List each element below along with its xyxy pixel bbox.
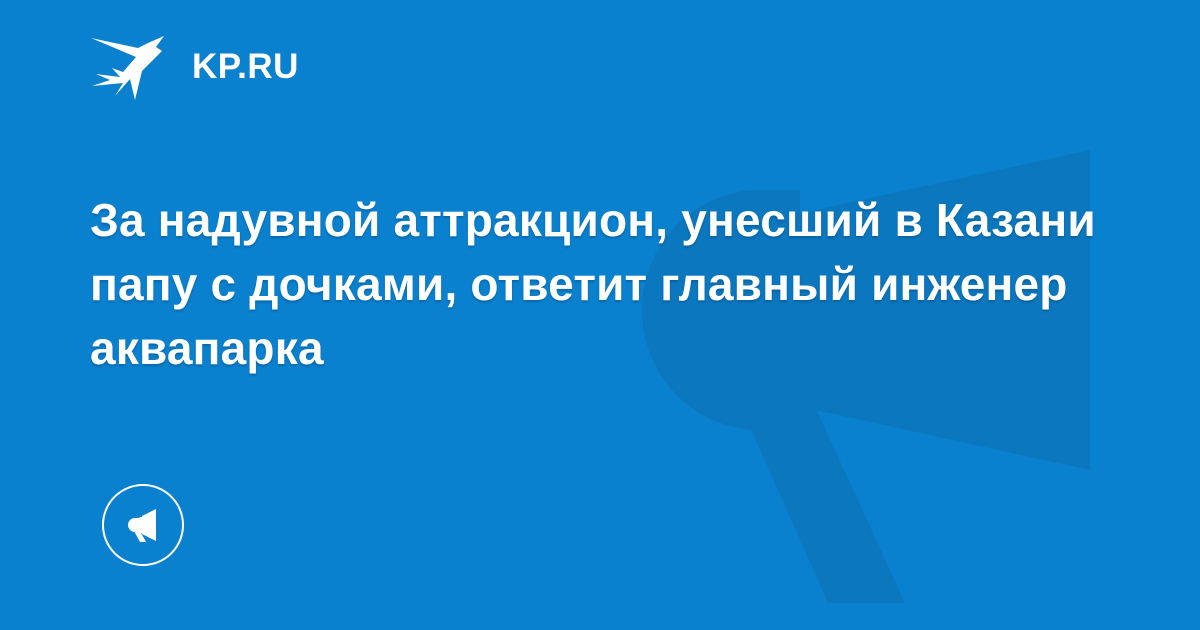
swallow-bird-icon	[90, 30, 170, 102]
megaphone-icon	[122, 504, 164, 546]
megaphone-badge[interactable]	[102, 484, 184, 566]
social-share-card: KP.RU За надувной аттракцион, унесший в …	[0, 0, 1200, 630]
brand-name: KP.RU	[192, 49, 299, 84]
page-title: За надувной аттракцион, унесший в Казани…	[90, 188, 1100, 380]
brand-logo-row[interactable]: KP.RU	[90, 30, 299, 102]
